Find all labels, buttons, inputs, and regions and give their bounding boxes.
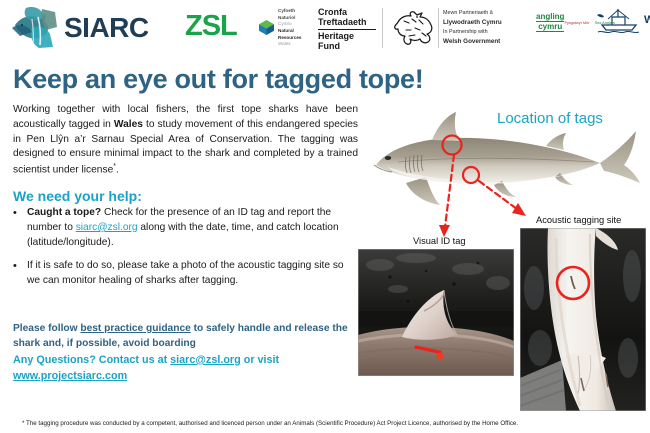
angling-sub-cy: Pysgotwyr Môr [564, 21, 589, 25]
best-practice-line: Please follow best practice guidance to … [13, 322, 358, 352]
website-link[interactable]: www.projectsiarc.com [13, 370, 127, 382]
logo-heritage-fund: Cronfa Treftadaeth Heritage Fund [318, 7, 376, 51]
page-title: Keep an eye out for tagged tope! [13, 64, 423, 95]
logo-welsh-government: Mewn Partneriaeth â Llywodraeth Cymru In… [392, 8, 502, 48]
heritage-fund-text-block: Cronfa Treftadaeth Heritage Fund [318, 7, 376, 51]
logo-siarc: SIARC [8, 3, 149, 53]
angling-cymru-emblem-icon [516, 15, 533, 29]
label-visual-id-tag: Visual ID tag [413, 236, 466, 246]
nrw-en-3: Wales [278, 41, 302, 48]
hlf-cy-2: Treftadaeth [318, 17, 376, 27]
nrw-en-2: Resources [278, 35, 302, 42]
nrw-cube-icon [258, 19, 275, 36]
wg-cy-1: Mewn Partneriaeth â [443, 9, 502, 18]
list-item-text: Caught a tope? Check for the presence of… [27, 206, 358, 250]
contact-email-link[interactable]: siarc@zsl.org [170, 354, 241, 366]
hlf-en-1: Heritage [318, 31, 376, 41]
wfa-cpc-wordmark: WFA▲CPC [644, 14, 650, 26]
poster-canvas: SIARC ZSL Cyfoeth Naturiol Cymru Natural… [0, 0, 650, 433]
list-item-text: If it is safe to do so, please take a ph… [27, 259, 358, 289]
nrw-cy-3: Cymru [278, 21, 302, 28]
intro-bold-wales: Wales [114, 119, 143, 130]
shark-diagram [368, 105, 650, 215]
questions-before: Any Questions? Contact us at [13, 354, 170, 366]
nrw-en-1: Natural [278, 28, 302, 35]
logo-divider-2 [438, 8, 439, 48]
questions-middle: or visit [241, 354, 279, 366]
hlf-en-2: Fund [318, 41, 376, 51]
bullet-2-text: If it is safe to do so, please take a ph… [27, 260, 344, 286]
angling-line-1: angling [536, 12, 564, 22]
help-heading: We need your help: [13, 188, 142, 204]
best-practice-guidance-link[interactable]: best practice guidance [80, 323, 190, 334]
logo-wfa-cpc: WFA▲CPC [592, 6, 650, 34]
list-item: • If it is safe to do so, please take a … [13, 259, 358, 289]
wg-cy-2: Llywodraeth Cymru [443, 19, 502, 26]
intro-period: . [116, 165, 119, 176]
wfa-word-left: WFA [644, 14, 650, 26]
bullet-marker: • [13, 206, 27, 250]
hlf-cy-1: Cronfa [318, 7, 376, 17]
help-bullet-list: • Caught a tope? Check for the presence … [13, 206, 358, 298]
footnote-text: * The tagging procedure was conducted by… [22, 420, 637, 428]
email-link-siarc[interactable]: siarc@zsl.org [76, 222, 138, 233]
angling-line-2: cymru [536, 22, 564, 32]
logo-natural-resources-wales: Cyfoeth Naturiol Cymru Natural Resources… [258, 8, 302, 48]
hlf-divider-rule [318, 29, 376, 30]
fishing-boat-icon [592, 6, 644, 34]
label-acoustic-tagging-site: Acoustic tagging site [536, 215, 621, 225]
contact-line: Any Questions? Contact us at siarc@zsl.o… [13, 352, 358, 384]
logo-zsl: ZSL [185, 10, 237, 43]
intro-paragraph: Working together with local fishers, the… [13, 103, 358, 178]
nrw-cy-1: Cyfoeth [278, 8, 302, 15]
nrw-text-block: Cyfoeth Naturiol Cymru Natural Resources… [278, 8, 302, 48]
follow-before: Please follow [13, 323, 80, 334]
partner-logo-strip: SIARC ZSL Cyfoeth Naturiol Cymru Natural… [0, 0, 650, 58]
zsl-wordmark: ZSL [185, 10, 237, 43]
logo-divider-1 [382, 8, 383, 48]
bullet-1-lead: Caught a tope? [27, 207, 101, 218]
visual-id-tag-photo [358, 249, 514, 376]
welsh-government-text-block: Mewn Partneriaeth â Llywodraeth Cymru In… [443, 9, 502, 46]
siarc-mark-icon [8, 3, 62, 53]
wg-en-2: Welsh Government [443, 38, 500, 45]
nrw-cy-2: Naturiol [278, 15, 302, 22]
wg-en-1: In Partnership with [443, 28, 502, 37]
bullet-marker: • [13, 259, 27, 289]
list-item: • Caught a tope? Check for the presence … [13, 206, 358, 250]
acoustic-tagging-site-photo [520, 228, 646, 411]
siarc-wordmark: SIARC [64, 12, 149, 44]
welsh-dragon-icon [392, 8, 438, 48]
